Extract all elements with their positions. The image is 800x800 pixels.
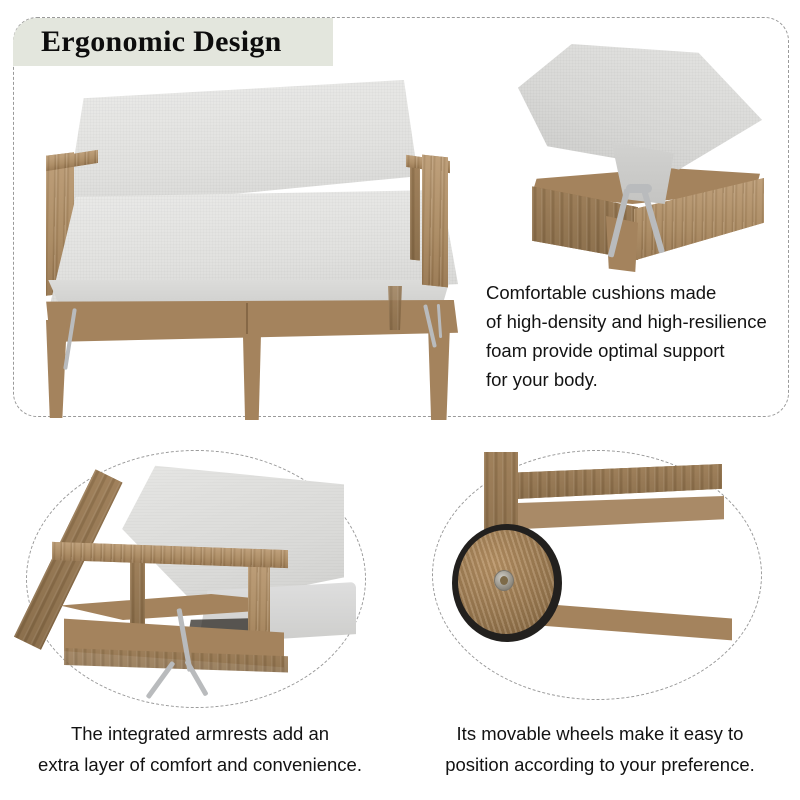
armrest-caption: The integrated armrests add an extra lay… xyxy=(0,718,400,780)
description-line-4: for your body. xyxy=(486,365,786,394)
wheel-inset-lower-rail xyxy=(536,600,732,642)
title-banner: Ergonomic Design xyxy=(13,18,333,66)
corner-tie-strap-knot xyxy=(626,184,652,193)
page-title: Ergonomic Design xyxy=(41,25,282,59)
sofa-frame-rail-seam xyxy=(246,303,248,339)
sofa-right-armrest-panel xyxy=(422,155,448,288)
detail-photo-wheel xyxy=(470,452,760,690)
wheel-inset-upper-rail-secondary xyxy=(510,496,724,536)
cushion-description-text: Comfortable cushions made of high-densit… xyxy=(486,278,786,394)
wheel-caption-line-1: Its movable wheels make it easy to xyxy=(400,718,800,749)
sofa-back-right-leg xyxy=(388,286,402,330)
detail-photo-armrest-backrest xyxy=(46,462,356,700)
sofa-center-leg xyxy=(242,334,261,420)
armrest-inset-left-post xyxy=(130,558,145,630)
description-line-2: of high-density and high-resilience xyxy=(486,307,786,336)
wheel-caption: Its movable wheels make it easy to posit… xyxy=(400,718,800,780)
description-line-3: foam provide optimal support xyxy=(486,336,786,365)
sofa-backrest-cushion xyxy=(66,80,418,210)
wheel-axle-bolt-center xyxy=(500,576,508,585)
detail-photo-cushion-corner xyxy=(508,38,776,268)
wheel-caption-line-2: position according to your preference. xyxy=(400,749,800,780)
description-line-1: Comfortable cushions made xyxy=(486,278,786,307)
armrest-caption-line-2: extra layer of comfort and convenience. xyxy=(0,749,400,780)
product-photo-main-sofa xyxy=(24,72,476,392)
sofa-right-armrest-inner-post xyxy=(410,167,420,260)
armrest-caption-line-1: The integrated armrests add an xyxy=(0,718,400,749)
